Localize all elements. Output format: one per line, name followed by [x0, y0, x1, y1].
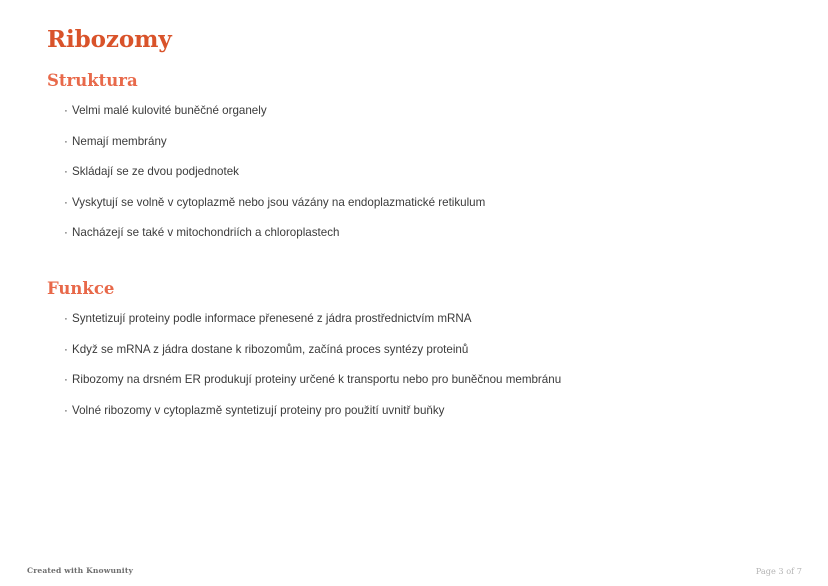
bullet-dot-icon: ·	[64, 195, 68, 210]
page-title: Ribozomy	[47, 27, 788, 53]
list-item-label: Vyskytují se volně v cytoplazmě nebo jso…	[72, 196, 485, 209]
bullet-dot-icon: ·	[64, 103, 68, 118]
list-item-label: Ribozomy na drsném ER produkují proteiny…	[72, 373, 561, 386]
list-item: · Nacházejí se také v mitochondriích a c…	[47, 225, 788, 256]
list-item-label: Když se mRNA z jádra dostane k ribozomům…	[72, 343, 468, 356]
list-item-label: Velmi malé kulovité buněčné organely	[72, 104, 267, 117]
section-heading-funkce: Funkce	[47, 279, 788, 299]
bullet-dot-icon: ·	[64, 311, 68, 326]
bullet-dot-icon: ·	[64, 134, 68, 149]
slide-page: Ribozomy Struktura · Velmi malé kulovité…	[0, 0, 828, 586]
list-item: · Ribozomy na drsném ER produkují protei…	[47, 372, 788, 403]
list-item-label: Skládají se ze dvou podjednotek	[72, 165, 239, 178]
list-item-label: Syntetizují proteiny podle informace pře…	[72, 312, 472, 325]
list-item-label: Nacházejí se také v mitochondriích a chl…	[72, 226, 339, 239]
list-item-label: Volné ribozomy v cytoplazmě syntetizují …	[72, 404, 444, 417]
list-item-label: Nemají membrány	[72, 135, 167, 148]
list-item: · Když se mRNA z jádra dostane k ribozom…	[47, 342, 788, 373]
list-item: · Syntetizují proteiny podle informace p…	[47, 311, 788, 342]
list-item: · Volné ribozomy v cytoplazmě syntetizuj…	[47, 403, 788, 434]
list-item: · Velmi malé kulovité buněčné organely	[47, 103, 788, 134]
list-item: · Skládají se ze dvou podjednotek	[47, 164, 788, 195]
list-item: · Nemají membrány	[47, 134, 788, 165]
bullet-dot-icon: ·	[64, 403, 68, 418]
page-content: Ribozomy Struktura · Velmi malé kulovité…	[47, 27, 788, 433]
footer-attribution: Created with Knowunity	[27, 566, 133, 576]
bullet-dot-icon: ·	[64, 342, 68, 357]
bullet-list-struktura: · Velmi malé kulovité buněčné organely ·…	[47, 103, 788, 256]
bullet-list-funkce: · Syntetizují proteiny podle informace p…	[47, 311, 788, 433]
section-heading-struktura: Struktura	[47, 71, 788, 91]
bullet-dot-icon: ·	[64, 225, 68, 240]
footer-page-number: Page 3 of 7	[756, 566, 802, 576]
bullet-dot-icon: ·	[64, 372, 68, 387]
list-item: · Vyskytují se volně v cytoplazmě nebo j…	[47, 195, 788, 226]
bullet-dot-icon: ·	[64, 164, 68, 179]
